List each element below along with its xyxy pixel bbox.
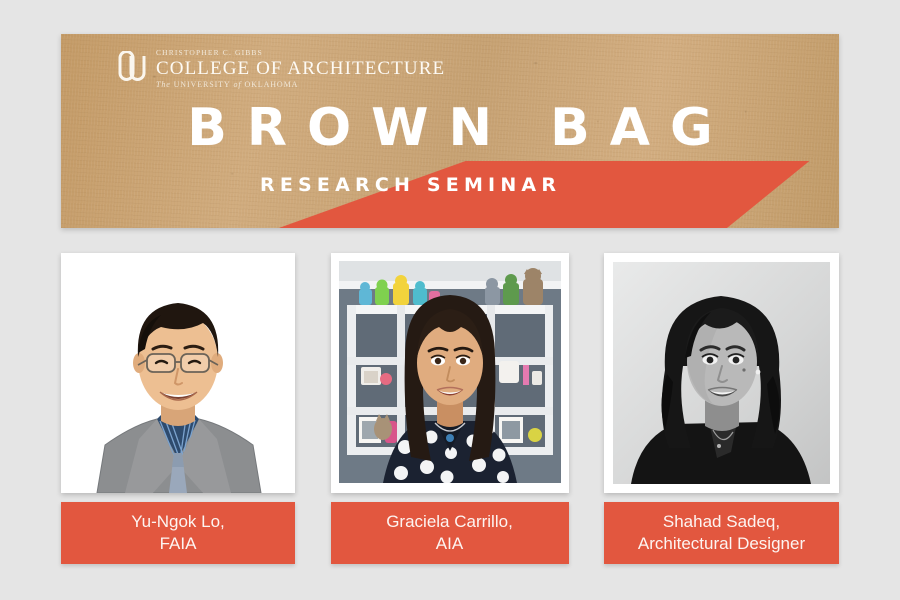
logo-of: of — [231, 80, 245, 89]
logo-line-university-of-oklahoma: The UNIVERSITY of OKLAHOMA — [156, 81, 445, 89]
speaker-photo-card — [61, 253, 295, 493]
speaker-caption: Graciela Carrillo, AIA — [331, 502, 569, 564]
portrait-graciela-carrillo-image — [339, 261, 561, 483]
logo-line-christopher-gibbs: CHRISTOPHER C. GIBBS — [156, 49, 445, 57]
speaker-panel-row: Yu-Ngok Lo, FAIA — [61, 253, 839, 564]
logo-wordmark: CHRISTOPHER C. GIBBS COLLEGE OF ARCHITEC… — [156, 49, 445, 89]
speaker-photo-card — [604, 253, 839, 493]
speaker-credential: Architectural Designer — [638, 533, 805, 555]
banner-subheadline: RESEARCH SEMINAR — [61, 176, 839, 195]
logo-oklahoma: OKLAHOMA — [244, 80, 298, 89]
speaker-credential: AIA — [436, 533, 463, 555]
logo-the: The — [156, 80, 174, 89]
brown-bag-banner: CHRISTOPHER C. GIBBS COLLEGE OF ARCHITEC… — [61, 34, 839, 228]
speaker-caption: Shahad Sadeq, Architectural Designer — [604, 502, 839, 564]
ou-college-of-architecture-logo: CHRISTOPHER C. GIBBS COLLEGE OF ARCHITEC… — [117, 49, 445, 89]
speaker-caption: Yu-Ngok Lo, FAIA — [61, 502, 295, 564]
speaker-panel-yu-ngok-lo[interactable]: Yu-Ngok Lo, FAIA — [61, 253, 295, 564]
portrait-yu-ngok-lo-image — [61, 253, 295, 493]
ou-interlocking-logo-icon — [117, 51, 147, 87]
portrait-shahad-sadeq-image — [613, 262, 830, 484]
speaker-name: Shahad Sadeq, — [663, 511, 780, 533]
logo-university: UNIVERSITY — [174, 80, 231, 89]
speaker-name: Graciela Carrillo, — [386, 511, 513, 533]
speaker-panel-graciela-carrillo[interactable]: Graciela Carrillo, AIA — [331, 253, 569, 564]
speaker-photo-card — [331, 253, 569, 493]
banner-headline: BROWN BAG — [61, 102, 839, 154]
speaker-panel-shahad-sadeq[interactable]: Shahad Sadeq, Architectural Designer — [604, 253, 839, 564]
speaker-name: Yu-Ngok Lo, — [131, 511, 225, 533]
logo-line-college-of-architecture: COLLEGE OF ARCHITECTURE — [156, 59, 445, 78]
speaker-credential: FAIA — [160, 533, 197, 555]
